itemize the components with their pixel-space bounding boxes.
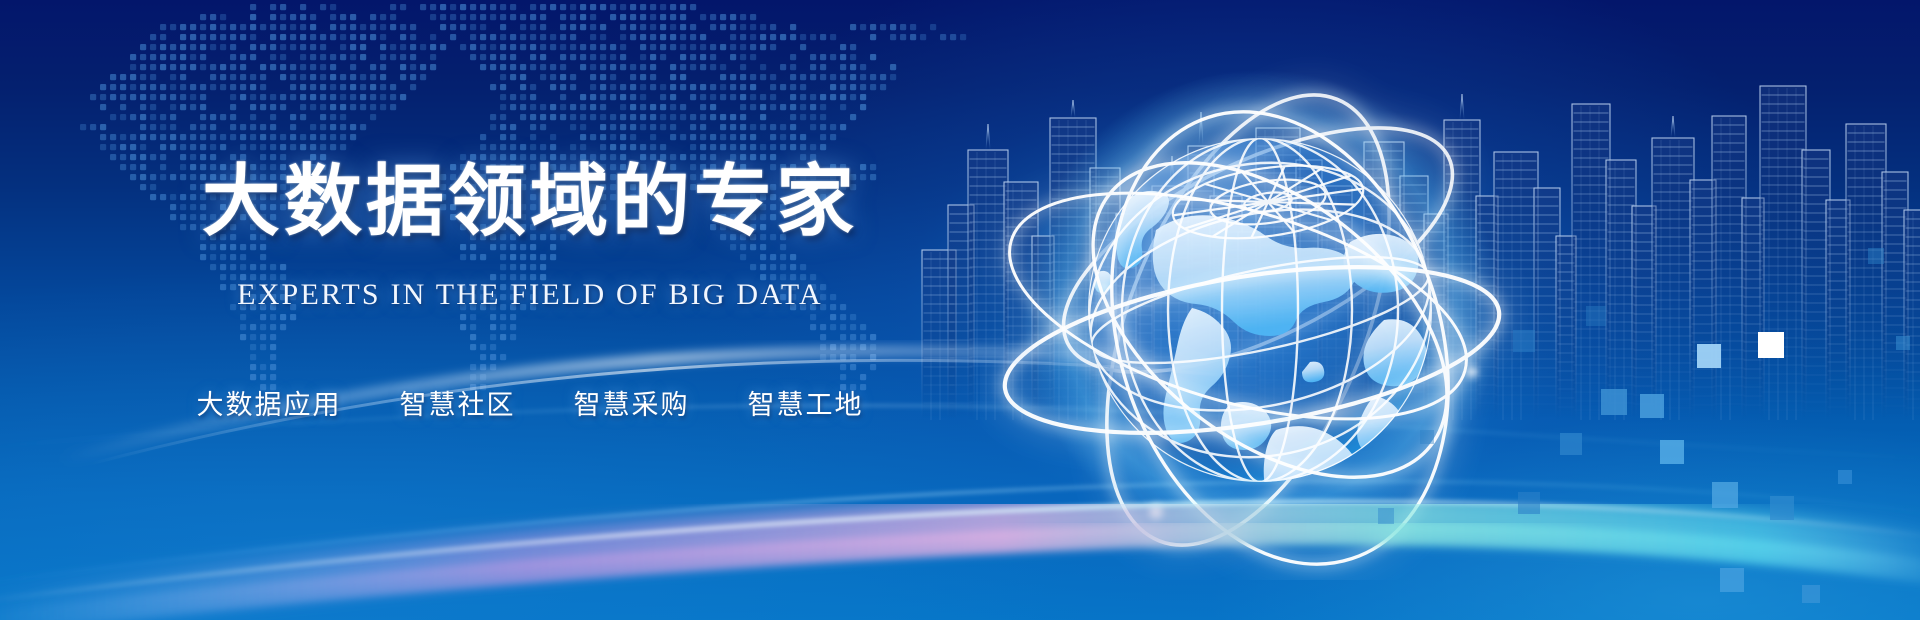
decorative-square bbox=[1601, 389, 1627, 415]
page-subtitle: EXPERTS IN THE FIELD OF BIG DATA bbox=[0, 278, 1060, 312]
glowing-globe-with-orbit-rings bbox=[980, 20, 1540, 580]
decorative-square bbox=[1712, 482, 1738, 508]
decorative-square bbox=[1770, 496, 1794, 520]
banner-copy: 大数据领域的专家 EXPERTS IN THE FIELD OF BIG DAT… bbox=[0, 0, 1060, 620]
decorative-square bbox=[1697, 344, 1721, 368]
keyword-link-0[interactable]: 大数据应用 bbox=[197, 383, 342, 422]
keyword-link-list: 大数据应用 智慧社区 智慧采购 智慧工地 bbox=[0, 383, 1060, 422]
page-title: 大数据领域的专家 bbox=[0, 163, 1060, 241]
keyword-link-2[interactable]: 智慧采购 bbox=[574, 383, 690, 422]
decorative-square bbox=[1868, 248, 1884, 264]
decorative-square bbox=[1640, 394, 1664, 418]
decorative-square bbox=[1720, 568, 1744, 592]
decorative-square bbox=[1802, 585, 1820, 603]
decorative-square bbox=[1586, 306, 1606, 326]
decorative-square bbox=[1513, 330, 1535, 352]
decorative-square bbox=[1518, 492, 1540, 514]
decorative-square bbox=[1758, 332, 1784, 358]
keyword-link-3[interactable]: 智慧工地 bbox=[748, 383, 864, 422]
decorative-square bbox=[1896, 336, 1910, 350]
decorative-square bbox=[1838, 470, 1852, 484]
decorative-square bbox=[1420, 430, 1434, 444]
keyword-link-1[interactable]: 智慧社区 bbox=[400, 383, 516, 422]
decorative-square bbox=[1660, 440, 1684, 464]
decorative-square bbox=[1560, 433, 1582, 455]
decorative-square bbox=[1378, 508, 1394, 524]
banner-root: 大数据领域的专家 EXPERTS IN THE FIELD OF BIG DAT… bbox=[0, 0, 1920, 620]
